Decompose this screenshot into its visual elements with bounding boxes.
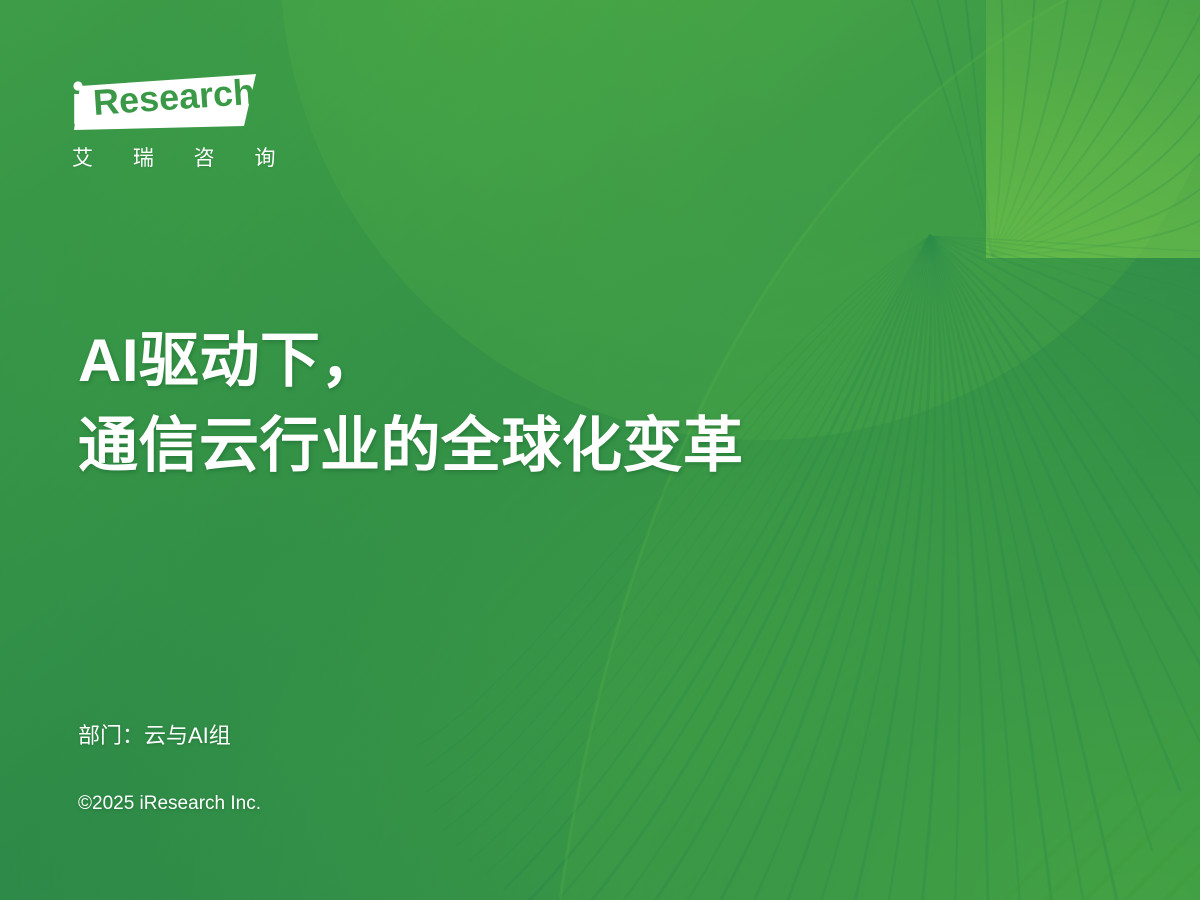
brand-logo-subtitle: 艾 瑞 咨 询	[72, 142, 293, 172]
page-title: AI驱动下， 通信云行业的全球化变革	[78, 318, 978, 488]
copyright-label: ©2025 iResearch Inc.	[78, 793, 261, 815]
brand-logo: Research 艾 瑞 咨 询	[68, 72, 328, 182]
department-label: 部门：云与AI组	[78, 718, 231, 750]
iresearch-logo-svg: Research	[68, 72, 268, 138]
report-cover-slide: Research 艾 瑞 咨 询 AI驱动下， 通信云行业的全球化变革 部门：云…	[0, 0, 1200, 900]
page-title-line-2: 通信云行业的全球化变革	[78, 403, 978, 488]
iresearch-logo-icon: Research	[68, 72, 268, 138]
page-title-line-1: AI驱动下，	[78, 318, 978, 403]
